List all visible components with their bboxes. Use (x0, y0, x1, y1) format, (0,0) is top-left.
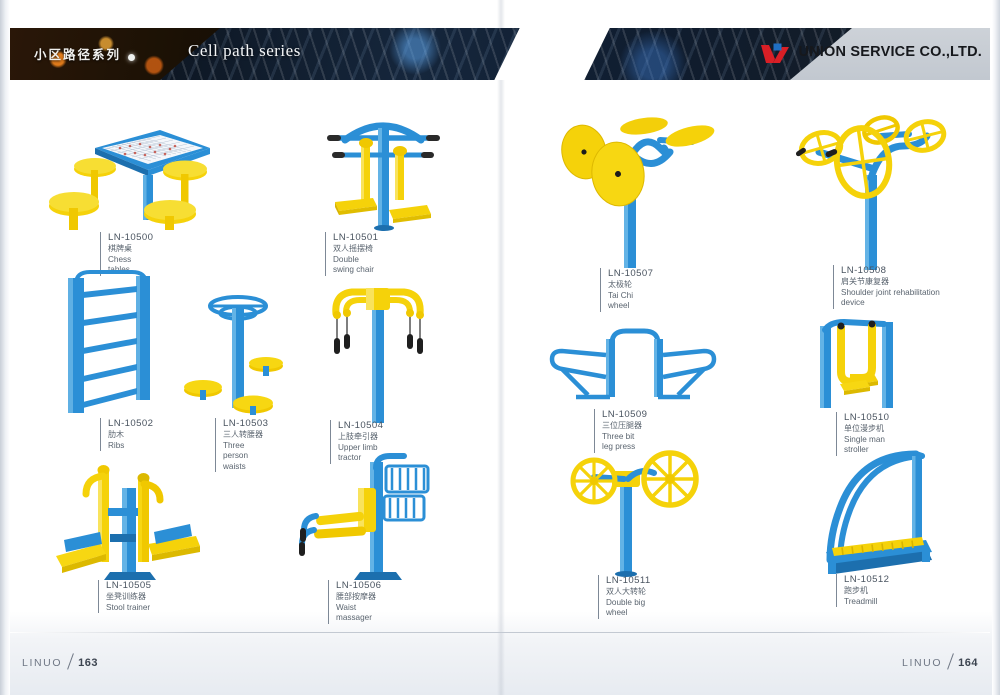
product-code: LN-10500 (108, 232, 153, 244)
product-name-cn: 三位压腿器 (602, 421, 647, 431)
treadmill-illustration (800, 448, 940, 578)
folio-slash-right-icon (944, 655, 956, 670)
caption-ln-10507: LN-10507 太极轮 Tai Chi wheel (600, 268, 653, 312)
stool-trainer-illustration (40, 448, 220, 583)
product-name-cn: 双人大转轮 (606, 587, 651, 597)
single-man-stroller-illustration (800, 318, 910, 410)
product-name-en: Tai Chi wheel (608, 291, 653, 312)
product-name-en: Treadmill (844, 597, 889, 608)
product-name-en: Stool trainer (106, 603, 151, 614)
product-name-cn: 太极轮 (608, 280, 653, 290)
product-code: LN-10504 (338, 420, 383, 432)
product-code: LN-10503 (223, 418, 268, 430)
product-name-cn: 腰部按摩器 (336, 592, 381, 602)
tai-chi-wheel-illustration (552, 118, 722, 268)
product-name-cn: 肋木 (108, 430, 153, 440)
caption-ln-10506: LN-10506 腰部按摩器 Waist massager (328, 580, 381, 624)
banner-title-cn: 小区路径系列 (34, 44, 121, 63)
product-name-cn: 上肢牵引器 (338, 432, 383, 442)
caption-ln-10512: LN-10512 跑步机 Treadmill (836, 574, 889, 607)
product-name-en: Double swing chair (333, 255, 378, 276)
product-code: LN-10507 (608, 268, 653, 280)
product-name-en: Double big wheel (606, 598, 651, 619)
caption-ln-10502: LN-10502 肋木 Ribs (100, 418, 153, 451)
product-name-cn: 棋牌桌 (108, 244, 153, 254)
product-name-cn: 三人转腰器 (223, 430, 268, 440)
page-gutter (497, 0, 505, 695)
product-code: LN-10508 (841, 265, 957, 277)
double-swing-chair-illustration (305, 110, 465, 230)
product-name-en: Shoulder joint rehabilitation device (841, 288, 957, 309)
product-name-cn: 双人摇摆椅 (333, 244, 378, 254)
waist-massager-illustration (300, 452, 450, 582)
ribs-ladder-illustration (60, 268, 180, 413)
chess-table-illustration (60, 120, 260, 230)
page-number-left: 163 (78, 657, 98, 669)
caption-ln-10503: LN-10503 三人转腰器 Three person waists (215, 418, 268, 472)
banner-dot-accent (128, 54, 135, 61)
product-code: LN-10512 (844, 574, 889, 586)
product-code: LN-10510 (844, 412, 889, 424)
shoulder-joint-rehab-illustration (785, 120, 965, 270)
product-code: LN-10505 (106, 580, 151, 592)
three-bit-leg-press-illustration (548, 325, 718, 405)
folio-left: LINUO 163 (22, 655, 98, 670)
folio-brand-right: LINUO (902, 657, 942, 669)
double-big-wheel-illustration (572, 445, 702, 575)
product-name-en: Waist massager (336, 603, 381, 624)
caption-ln-10511: LN-10511 双人大转轮 Double big wheel (598, 575, 651, 619)
footer-divider (10, 632, 990, 633)
product-code: LN-10501 (333, 232, 378, 244)
union-service-mark-icon (760, 40, 790, 64)
folio-right: LINUO 164 (902, 655, 978, 670)
product-name-cn: 坐凳训练器 (106, 592, 151, 602)
page-edge-left (0, 0, 10, 695)
caption-ln-10505: LN-10505 坐凳训练器 Stool trainer (98, 580, 151, 613)
product-code: LN-10502 (108, 418, 153, 430)
three-person-waists-illustration (185, 290, 315, 415)
upper-limb-tractor-illustration (318, 278, 438, 423)
folio-slash-left-icon (64, 655, 76, 670)
product-name-cn: 跑步机 (844, 586, 889, 596)
folio-brand-left: LINUO (22, 657, 62, 669)
product-code: LN-10511 (606, 575, 651, 587)
product-name-en: Three person waists (223, 441, 268, 473)
product-code: LN-10509 (602, 409, 647, 421)
catalog-page: 小区路径系列 Cell path series UNION SERVICE CO… (0, 0, 1000, 695)
banner-title-en: Cell path series (188, 41, 301, 61)
page-edge-right (992, 0, 1000, 695)
product-name-cn: 肩关节康复器 (841, 277, 957, 287)
product-name-cn: 单位漫步机 (844, 424, 889, 434)
caption-ln-10501: LN-10501 双人摇摆椅 Double swing chair (325, 232, 378, 276)
caption-ln-10508: LN-10508 肩关节康复器 Shoulder joint rehabilit… (833, 265, 957, 309)
page-number-right: 164 (958, 657, 978, 669)
company-name: UNION SERVICE CO.,LTD. (798, 44, 982, 60)
company-logo: UNION SERVICE CO.,LTD. (760, 40, 982, 64)
product-code: LN-10506 (336, 580, 381, 592)
